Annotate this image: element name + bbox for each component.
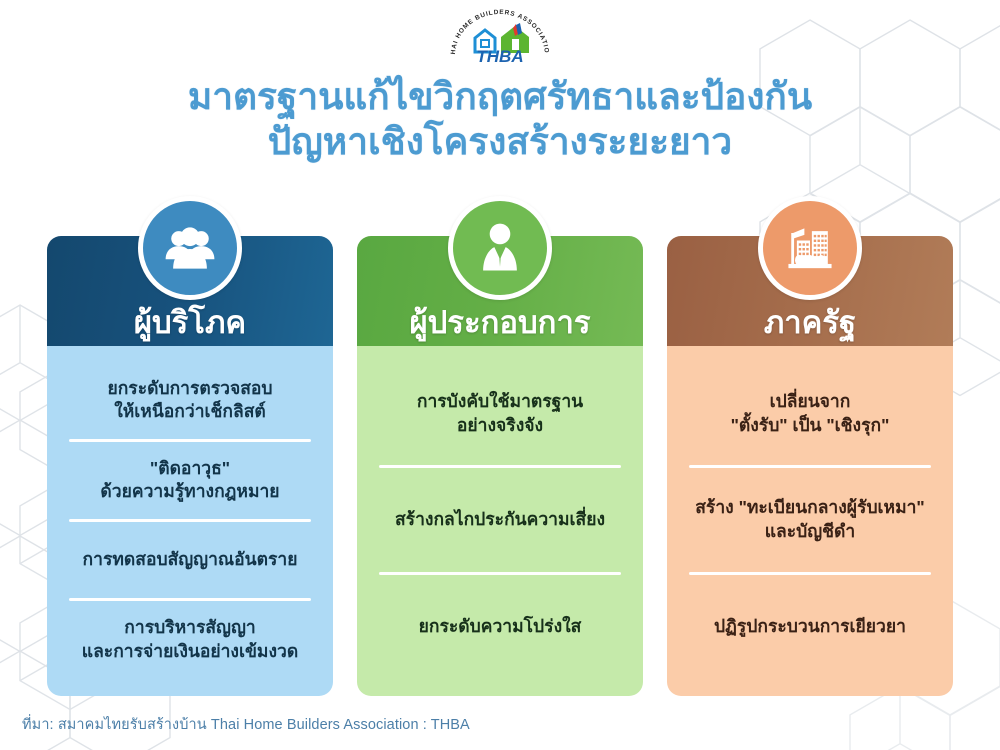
consumer-item-4: การบริหารสัญญาและการจ่ายเงินอย่างเข้มงวด: [82, 616, 298, 663]
page-title-line-1: มาตรฐานแก้ไขวิกฤตศรัทธาและป้องกัน: [0, 74, 1000, 119]
government-item-2: สร้าง "ทะเบียนกลางผู้รับเหมา"และบัญชีดำ: [695, 496, 924, 543]
list-item: สร้างกลไกประกันความเสี่ยง: [371, 468, 629, 571]
operator-item-1: การบังคับใช้มาตรฐานอย่างจริงจัง: [417, 390, 583, 437]
page-title: มาตรฐานแก้ไขวิกฤตศรัทธาและป้องกัน ปัญหาเ…: [0, 74, 1000, 164]
list-item: ปฏิรูปกระบวนการเยียวยา: [681, 575, 939, 678]
operator-item-2: สร้างกลไกประกันความเสี่ยง: [395, 508, 605, 532]
source-note: ที่มา: สมาคมไทยรับสร้างบ้าน Thai Home Bu…: [22, 713, 470, 736]
thba-logo: THAI HOME BUILDERS ASSOCIATION THBA: [445, 6, 555, 68]
column-operator: ผู้ประกอบการ การบังคับใช้มาตรฐานอย่างจริ…: [357, 196, 643, 696]
list-item: การบังคับใช้มาตรฐานอย่างจริงจัง: [371, 362, 629, 465]
city-buildings-icon: [780, 218, 840, 278]
consumer-item-3: การทดสอบสัญญาณอันตราย: [83, 548, 298, 572]
consumer-body: ยกระดับการตรวจสอบให้เหนือกว่าเช็กลิสต์ "…: [47, 346, 333, 696]
operator-heading: ผู้ประกอบการ: [409, 307, 590, 338]
government-item-3: ปฏิรูปกระบวนการเยียวยา: [714, 615, 906, 639]
operator-item-3: ยกระดับความโปร่งใส: [419, 615, 582, 639]
logo-wordmark: THBA: [476, 47, 523, 66]
consumer-heading: ผู้บริโภค: [134, 307, 246, 338]
stakeholder-columns: ผู้บริโภค ยกระดับการตรวจสอบให้เหนือกว่าเ…: [0, 196, 1000, 696]
operator-badge: [448, 196, 552, 300]
businessman-icon: [470, 218, 530, 278]
list-item: การทดสอบสัญญาณอันตราย: [61, 522, 319, 599]
consumer-item-1: ยกระดับการตรวจสอบให้เหนือกว่าเช็กลิสต์: [107, 377, 272, 424]
list-item: ยกระดับความโปร่งใส: [371, 575, 629, 678]
operator-body: การบังคับใช้มาตรฐานอย่างจริงจัง สร้างกลไ…: [357, 346, 643, 696]
list-item: "ติดอาวุธ"ด้วยความรู้ทางกฎหมาย: [61, 442, 319, 519]
people-group-icon: [160, 218, 220, 278]
list-item: สร้าง "ทะเบียนกลางผู้รับเหมา"และบัญชีดำ: [681, 468, 939, 571]
government-item-1: เปลี่ยนจาก"ตั้งรับ" เป็น "เชิงรุก": [731, 390, 890, 437]
consumer-item-2: "ติดอาวุธ"ด้วยความรู้ทางกฎหมาย: [100, 457, 279, 504]
page-title-line-2: ปัญหาเชิงโครงสร้างระยะยาว: [0, 119, 1000, 164]
government-heading: ภาครัฐ: [764, 307, 856, 338]
government-badge: [758, 196, 862, 300]
consumer-badge: [138, 196, 242, 300]
column-consumer: ผู้บริโภค ยกระดับการตรวจสอบให้เหนือกว่าเ…: [47, 196, 333, 696]
list-item: เปลี่ยนจาก"ตั้งรับ" เป็น "เชิงรุก": [681, 362, 939, 465]
list-item: ยกระดับการตรวจสอบให้เหนือกว่าเช็กลิสต์: [61, 362, 319, 439]
column-government: ภาครัฐ เปลี่ยนจาก"ตั้งรับ" เป็น "เชิงรุก…: [667, 196, 953, 696]
list-item: การบริหารสัญญาและการจ่ายเงินอย่างเข้มงวด: [61, 601, 319, 678]
government-body: เปลี่ยนจาก"ตั้งรับ" เป็น "เชิงรุก" สร้าง…: [667, 346, 953, 696]
